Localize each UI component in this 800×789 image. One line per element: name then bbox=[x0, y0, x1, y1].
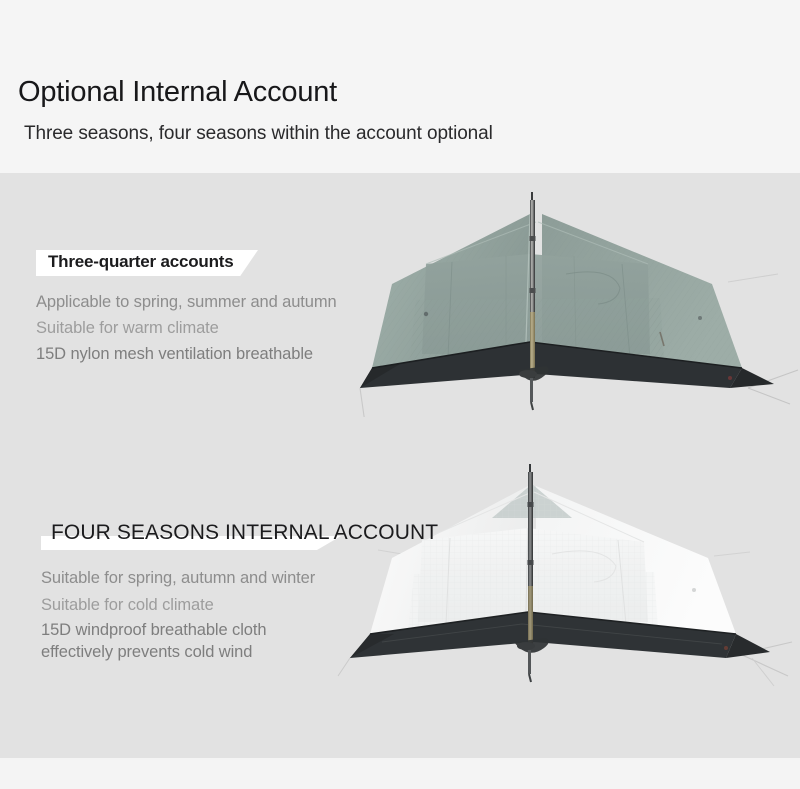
feature-line: Suitable for cold climate bbox=[41, 592, 448, 619]
feature-title-wrap: FOUR SEASONS INTERNAL ACCOUNT bbox=[41, 519, 448, 547]
feature-line: Suitable for spring, autumn and winter bbox=[41, 565, 448, 592]
page-subtitle: Three seasons, four seasons within the a… bbox=[24, 123, 493, 145]
feature-description-list: Applicable to spring, summer and autumn … bbox=[36, 289, 337, 367]
feature-title-wrap: Three-quarter accounts bbox=[36, 249, 247, 275]
feature-line: effectively prevents cold wind bbox=[41, 641, 448, 663]
feature-description-list: Suitable for spring, autumn and winter S… bbox=[41, 565, 448, 663]
page-header: Optional Internal Account Three seasons,… bbox=[0, 0, 800, 173]
page-title: Optional Internal Account bbox=[18, 76, 337, 109]
footer-band bbox=[0, 758, 800, 789]
feature-block-three-quarter: Three-quarter accounts Applicable to spr… bbox=[36, 249, 337, 367]
feature-line: 15D windproof breathable cloth bbox=[41, 619, 448, 641]
feature-title: FOUR SEASONS INTERNAL ACCOUNT bbox=[41, 519, 448, 547]
feature-line: Applicable to spring, summer and autumn bbox=[36, 289, 337, 315]
feature-line: Suitable for warm climate bbox=[36, 315, 337, 341]
feature-line: 15D nylon mesh ventilation breathable bbox=[36, 341, 337, 367]
tent-image-three-quarter bbox=[330, 192, 800, 417]
feature-block-four-seasons: FOUR SEASONS INTERNAL ACCOUNT Suitable f… bbox=[41, 519, 448, 663]
feature-title: Three-quarter accounts bbox=[36, 249, 247, 275]
